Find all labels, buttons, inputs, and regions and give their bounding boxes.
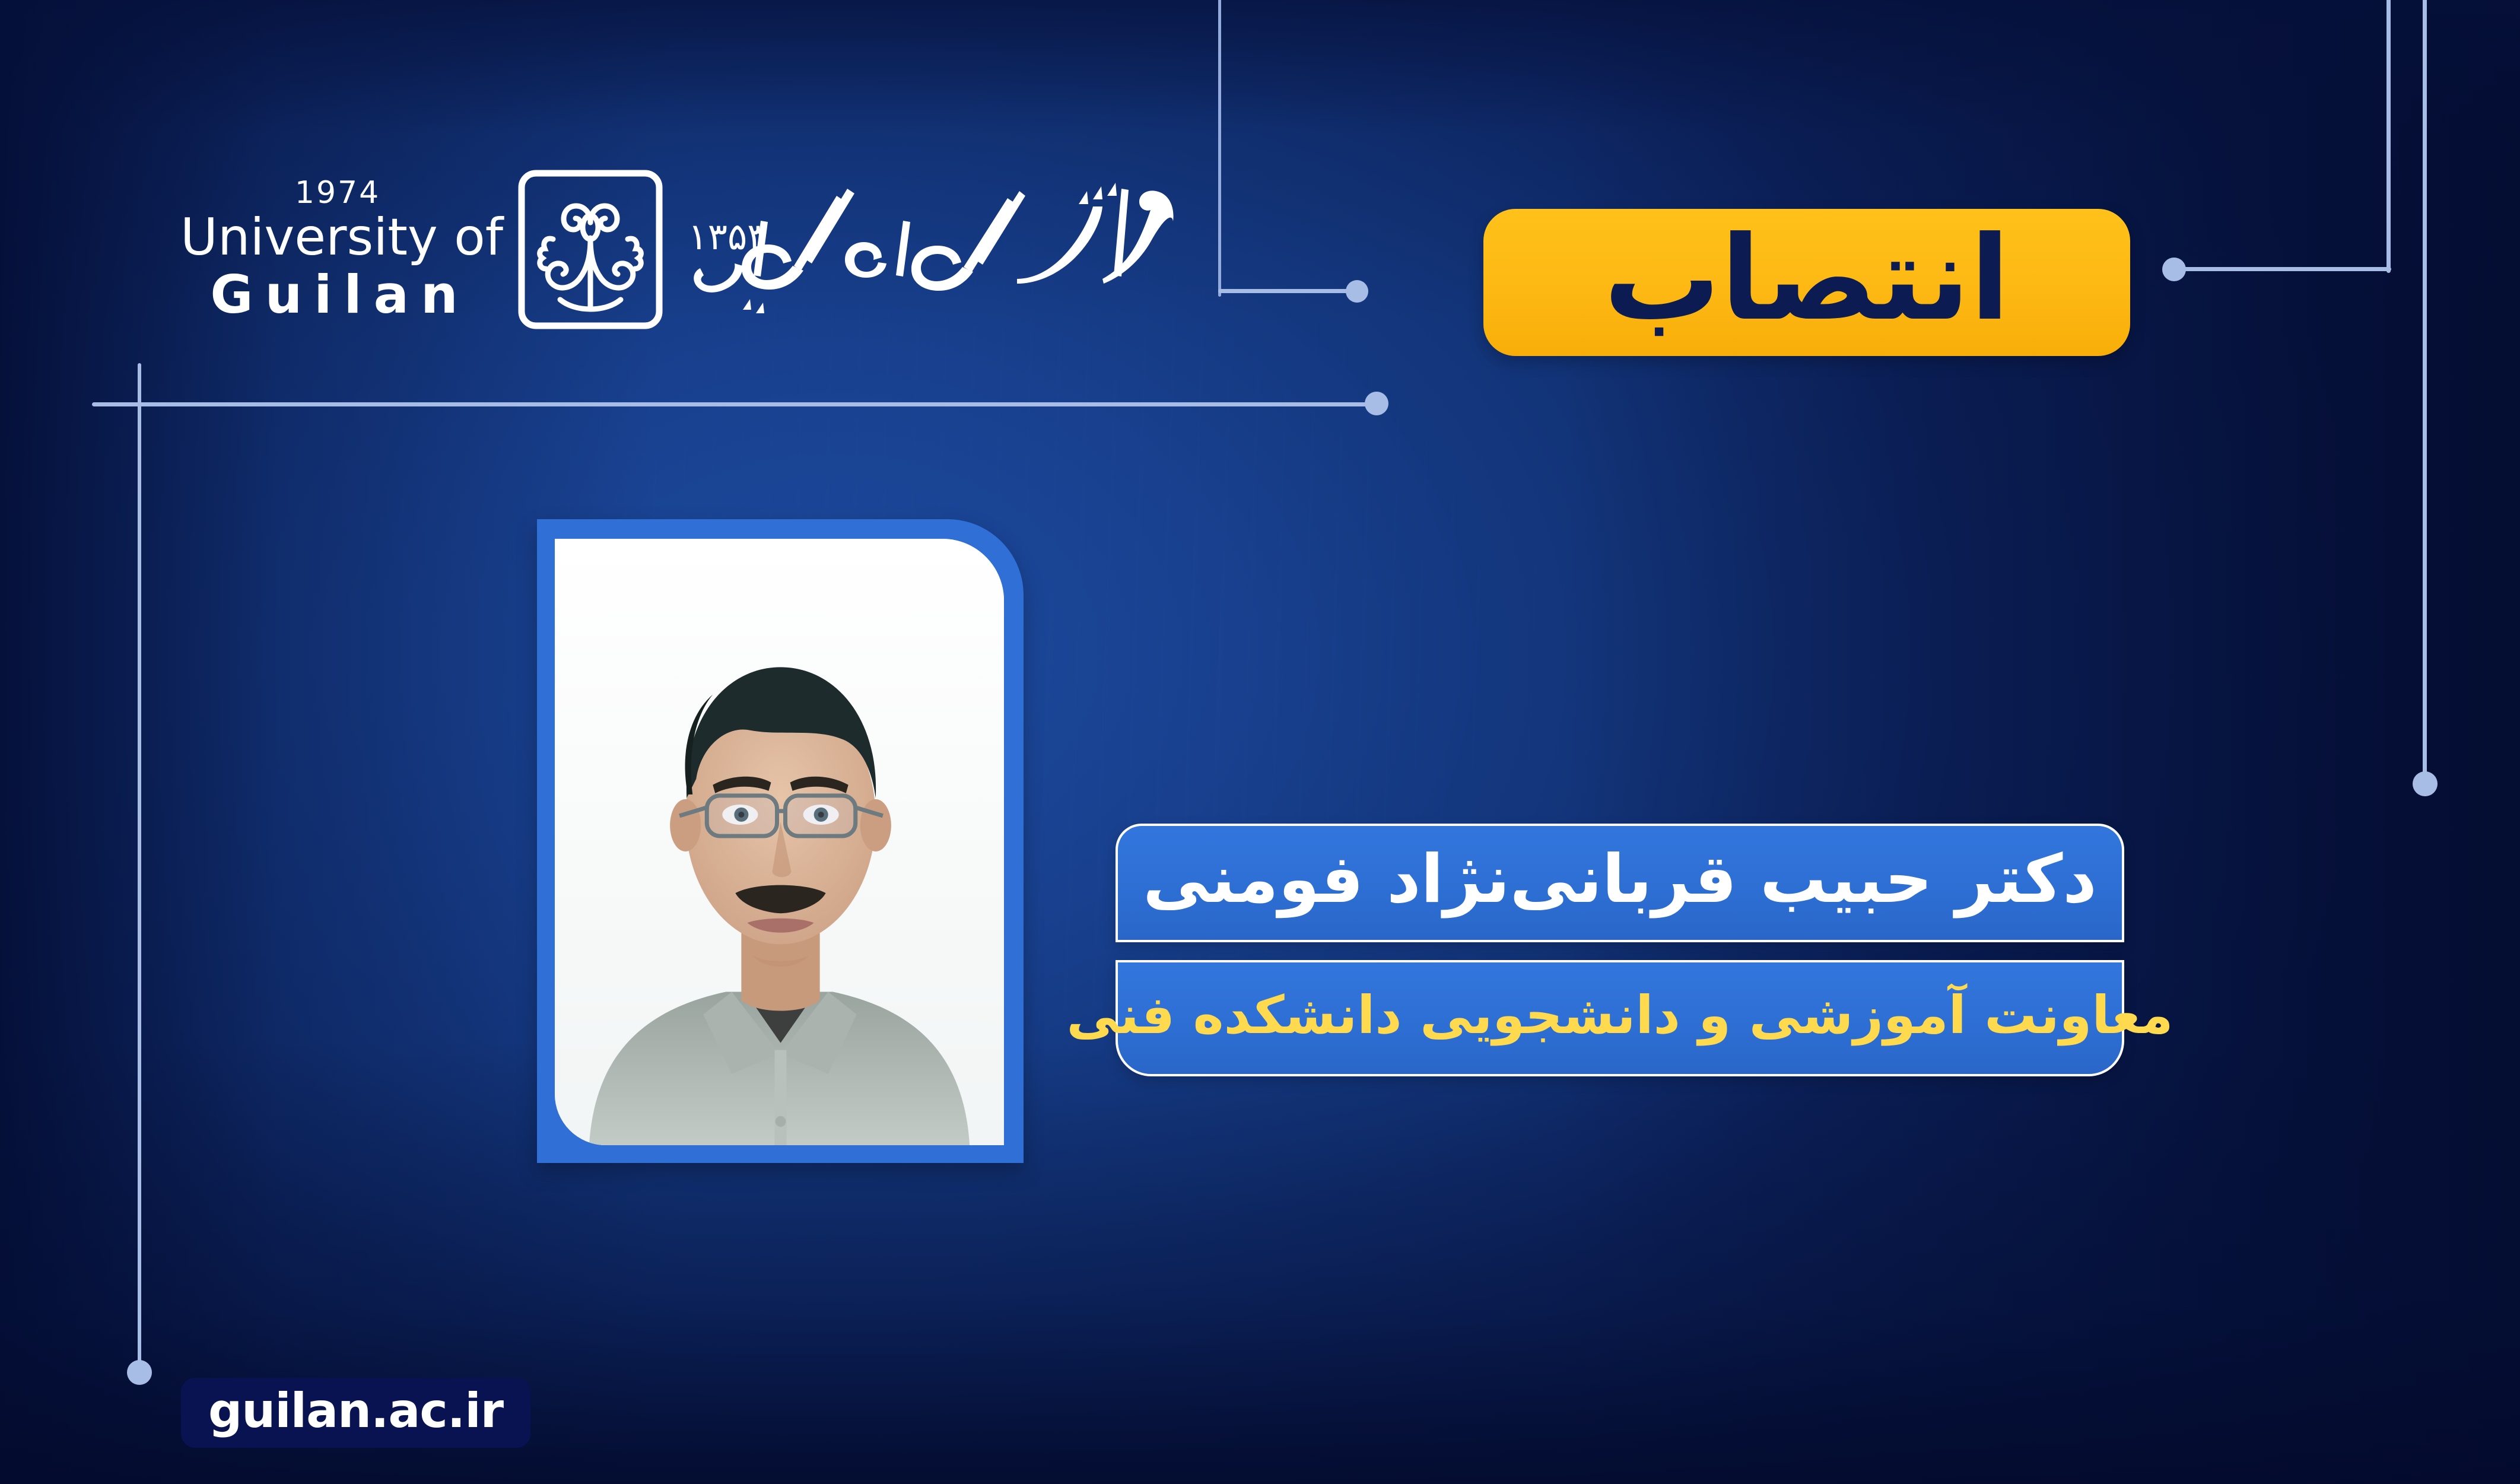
decor-dot-under-logo (1365, 392, 1388, 415)
person-position-banner: معاونت آموزشی و دانشجویی دانشکده فنی (1116, 960, 2124, 1076)
poster-canvas: 1974 University of Guilan (0, 0, 2520, 1484)
decor-dot-right (2413, 771, 2438, 796)
decor-dot-upper-right (2162, 258, 2186, 281)
decor-line-upper-right-horizontal (2172, 267, 2391, 271)
person-name-banner: دکتر حبیب قربانی‌نژاد فومنی (1116, 824, 2124, 942)
decor-dot-left-bottom (127, 1360, 152, 1385)
website-url: guilan.ac.ir (208, 1387, 503, 1435)
logo-guilan: Guilan (210, 269, 473, 321)
university-logo: 1974 University of Guilan (178, 151, 1222, 347)
portrait-photo (555, 539, 1004, 1145)
person-position: معاونت آموزشی و دانشجویی دانشکده فنی (1066, 992, 2173, 1038)
guilan-butterfly-emblem-icon (516, 168, 665, 331)
person-name: دکتر حبیب قربانی‌نژاد فومنی (1143, 850, 2097, 910)
portrait-frame (537, 519, 1024, 1163)
decor-dot-top (1346, 280, 1368, 303)
logo-university-of: University of (180, 212, 503, 263)
decor-line-right-vertical-short (2386, 0, 2391, 273)
website-pill[interactable]: guilan.ac.ir (181, 1378, 530, 1448)
decor-line-left-vertical (138, 363, 141, 1372)
decor-line-under-logo (92, 402, 1377, 406)
decor-line-top-horizontal (1218, 289, 1355, 293)
logo-english-text: 1974 University of Guilan (178, 177, 503, 321)
decor-line-right-vertical-long (2423, 0, 2427, 786)
appointment-badge: انتصاب (1483, 209, 2130, 356)
logo-persian-text: ۱۳۵۳ (678, 160, 1200, 338)
logo-founded-year: 1974 (295, 177, 380, 208)
appointment-badge-label: انتصاب (1604, 230, 2010, 328)
